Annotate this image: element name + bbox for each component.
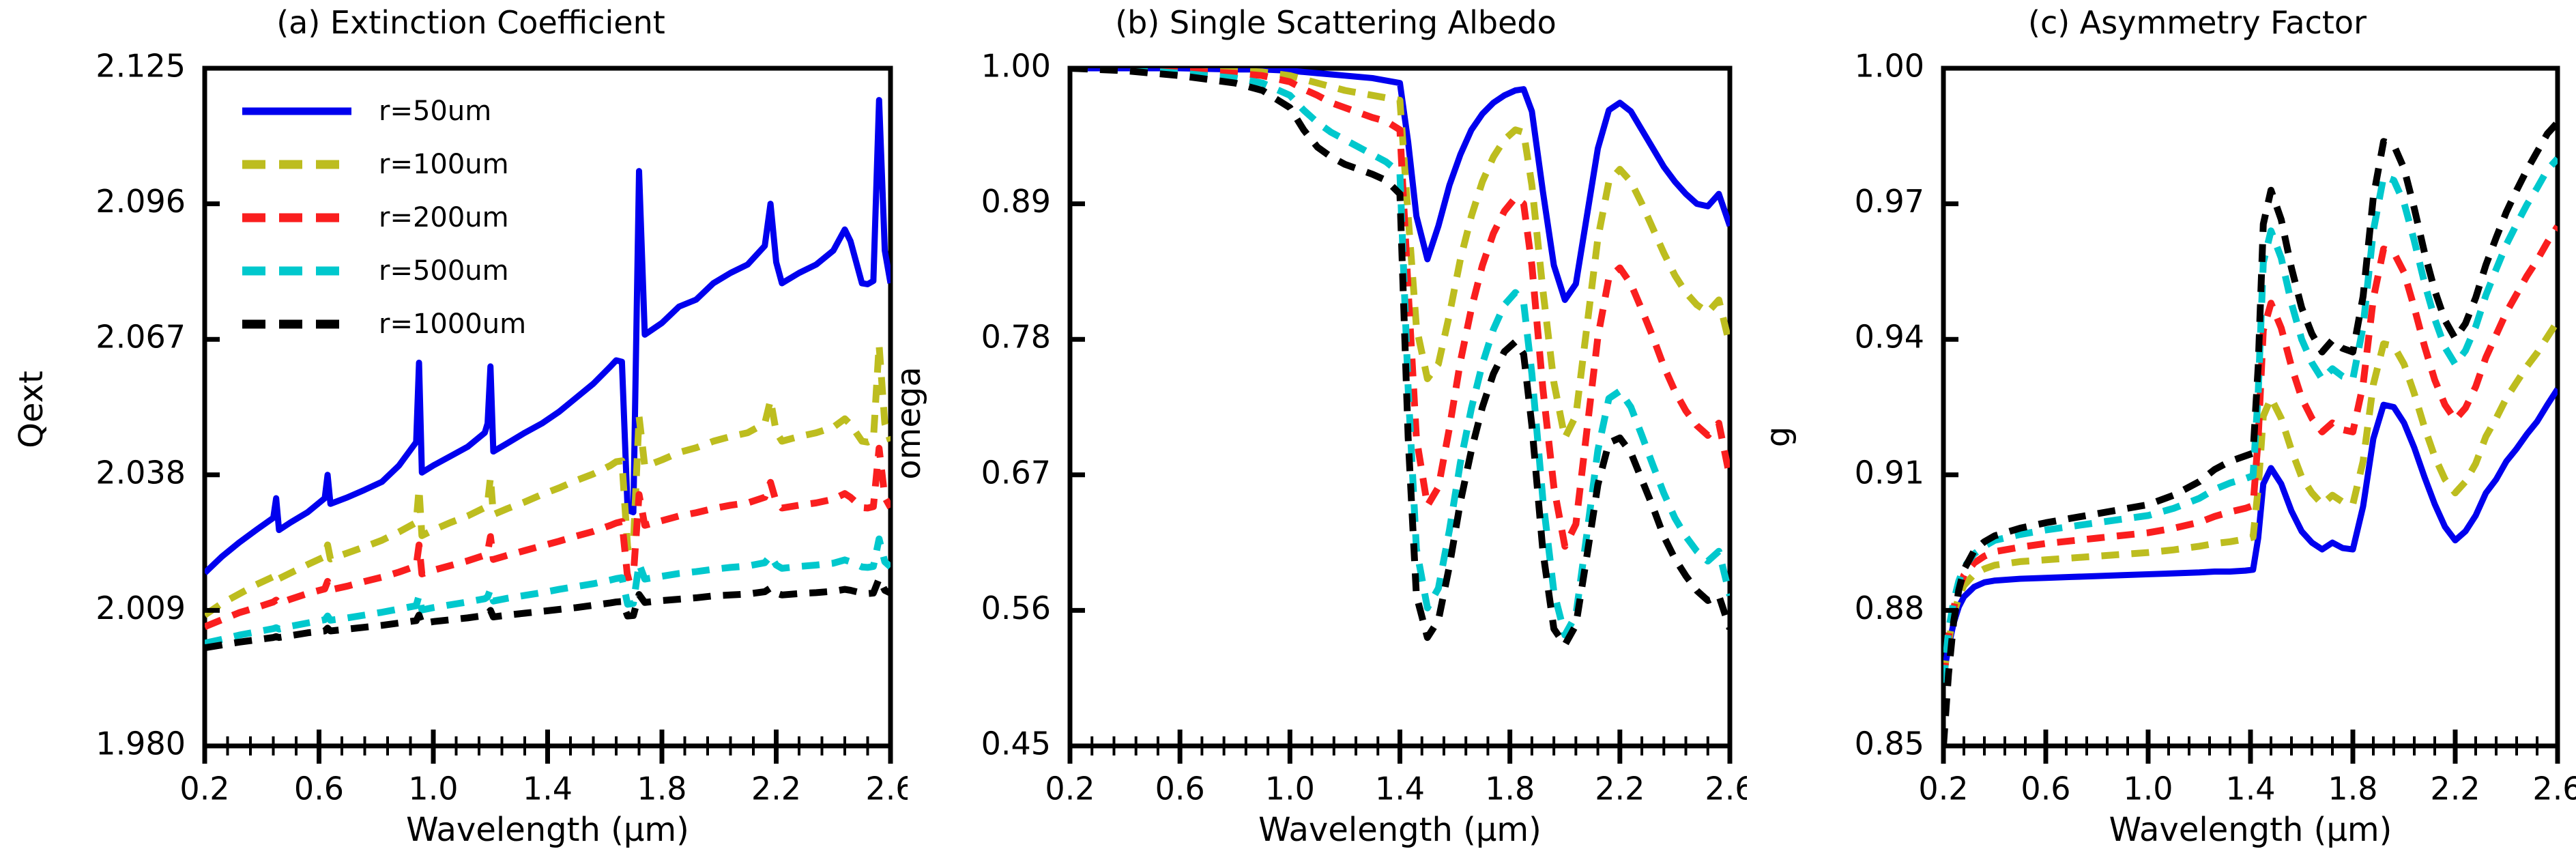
x-tick-label: 2.6 [1705, 770, 1747, 807]
x-tick-label: 0.2 [1918, 770, 1968, 807]
y-tick-label: 1.980 [96, 725, 186, 762]
x-tick-label: 1.8 [1485, 770, 1535, 807]
x-tick-label: 0.6 [294, 770, 344, 807]
series-line-r50um [205, 100, 891, 573]
figure-root: (a) Extinction Coefficient 1.9802.0092.0… [0, 0, 2576, 864]
y-tick-label: 0.85 [1855, 725, 1924, 762]
legend-label-r500um: r=500um [379, 255, 509, 287]
x-tick-label: 1.0 [2123, 770, 2173, 807]
series-group [1943, 122, 2558, 746]
y-tick-label: 2.067 [96, 319, 186, 356]
x-axis-label: Wavelength (μm) [2109, 811, 2392, 849]
panel-c-asymmetry-factor: (c) Asymmetry Factor 0.850.880.910.940.9… [1747, 0, 2576, 864]
x-tick-label: 2.6 [2532, 770, 2576, 807]
x-axis-label: Wavelength (μm) [1258, 811, 1542, 849]
y-tick-label: 2.096 [96, 183, 186, 220]
x-tick-label: 0.6 [1155, 770, 1205, 807]
y-tick-label: 0.45 [981, 725, 1051, 762]
series-line-r200um [205, 448, 891, 627]
series-line-r500um [1943, 158, 2558, 682]
series-line-r1000um [205, 579, 891, 648]
x-tick-label: 2.2 [2430, 770, 2480, 807]
x-tick-label: 1.0 [1265, 770, 1315, 807]
x-axis-label: Wavelength (μm) [406, 811, 689, 849]
y-tick-label: 1.00 [981, 48, 1051, 85]
panel-c-plot: 0.850.880.910.940.971.000.20.61.01.41.82… [1747, 0, 2576, 864]
x-tick-label: 0.2 [1045, 770, 1095, 807]
y-tick-label: 0.78 [981, 319, 1051, 356]
legend-label-r50um: r=50um [379, 96, 491, 127]
x-tick-label: 1.8 [637, 770, 686, 807]
panel-b-plot: 0.450.560.670.780.891.000.20.61.01.41.82… [880, 0, 1747, 864]
x-tick-label: 2.2 [1595, 770, 1645, 807]
x-tick-label: 1.4 [2225, 770, 2275, 807]
legend: r=50umr=100umr=200umr=500umr=1000um [242, 96, 526, 340]
y-tick-label: 2.038 [96, 454, 186, 491]
y-tick-label: 0.94 [1855, 319, 1924, 356]
x-tick-label: 0.2 [179, 770, 229, 807]
y-tick-label: 0.91 [1855, 454, 1924, 491]
panel-a-plot: 1.9802.0092.0382.0672.0962.1250.20.61.01… [0, 0, 908, 864]
series-line-r500um [205, 539, 891, 644]
plot-frame [205, 68, 891, 746]
series-group [1070, 68, 1730, 645]
y-tick-label: 0.97 [1855, 183, 1924, 220]
x-tick-label: 1.4 [1375, 770, 1425, 807]
series-line-r100um [205, 345, 891, 615]
panel-b-single-scattering-albedo: (b) Single Scattering Albedo 0.450.560.6… [880, 0, 1747, 864]
x-tick-label: 1.0 [408, 770, 458, 807]
y-tick-label: 1.00 [1855, 48, 1924, 85]
y-tick-label: 0.67 [981, 454, 1051, 491]
y-axis-label: g [1759, 427, 1797, 447]
y-axis-label: omega [890, 366, 928, 480]
x-tick-label: 2.2 [751, 770, 801, 807]
y-tick-label: 0.88 [1855, 590, 1924, 627]
x-tick-label: 1.8 [2328, 770, 2377, 807]
series-group [205, 100, 891, 648]
series-line-r1000um [1943, 122, 2558, 746]
y-tick-label: 0.56 [981, 590, 1051, 627]
legend-label-r100um: r=100um [379, 149, 509, 180]
y-tick-label: 2.125 [96, 48, 186, 85]
panel-a-extinction-coefficient: (a) Extinction Coefficient 1.9802.0092.0… [0, 0, 908, 864]
series-line-r100um [1943, 321, 2558, 678]
legend-label-r1000um: r=1000um [379, 308, 526, 340]
y-tick-label: 2.009 [96, 590, 186, 627]
x-tick-label: 0.6 [2021, 770, 2070, 807]
y-tick-label: 0.89 [981, 183, 1051, 220]
legend-label-r200um: r=200um [379, 202, 509, 233]
x-tick-label: 1.4 [523, 770, 573, 807]
y-axis-label: Qext [12, 371, 50, 448]
